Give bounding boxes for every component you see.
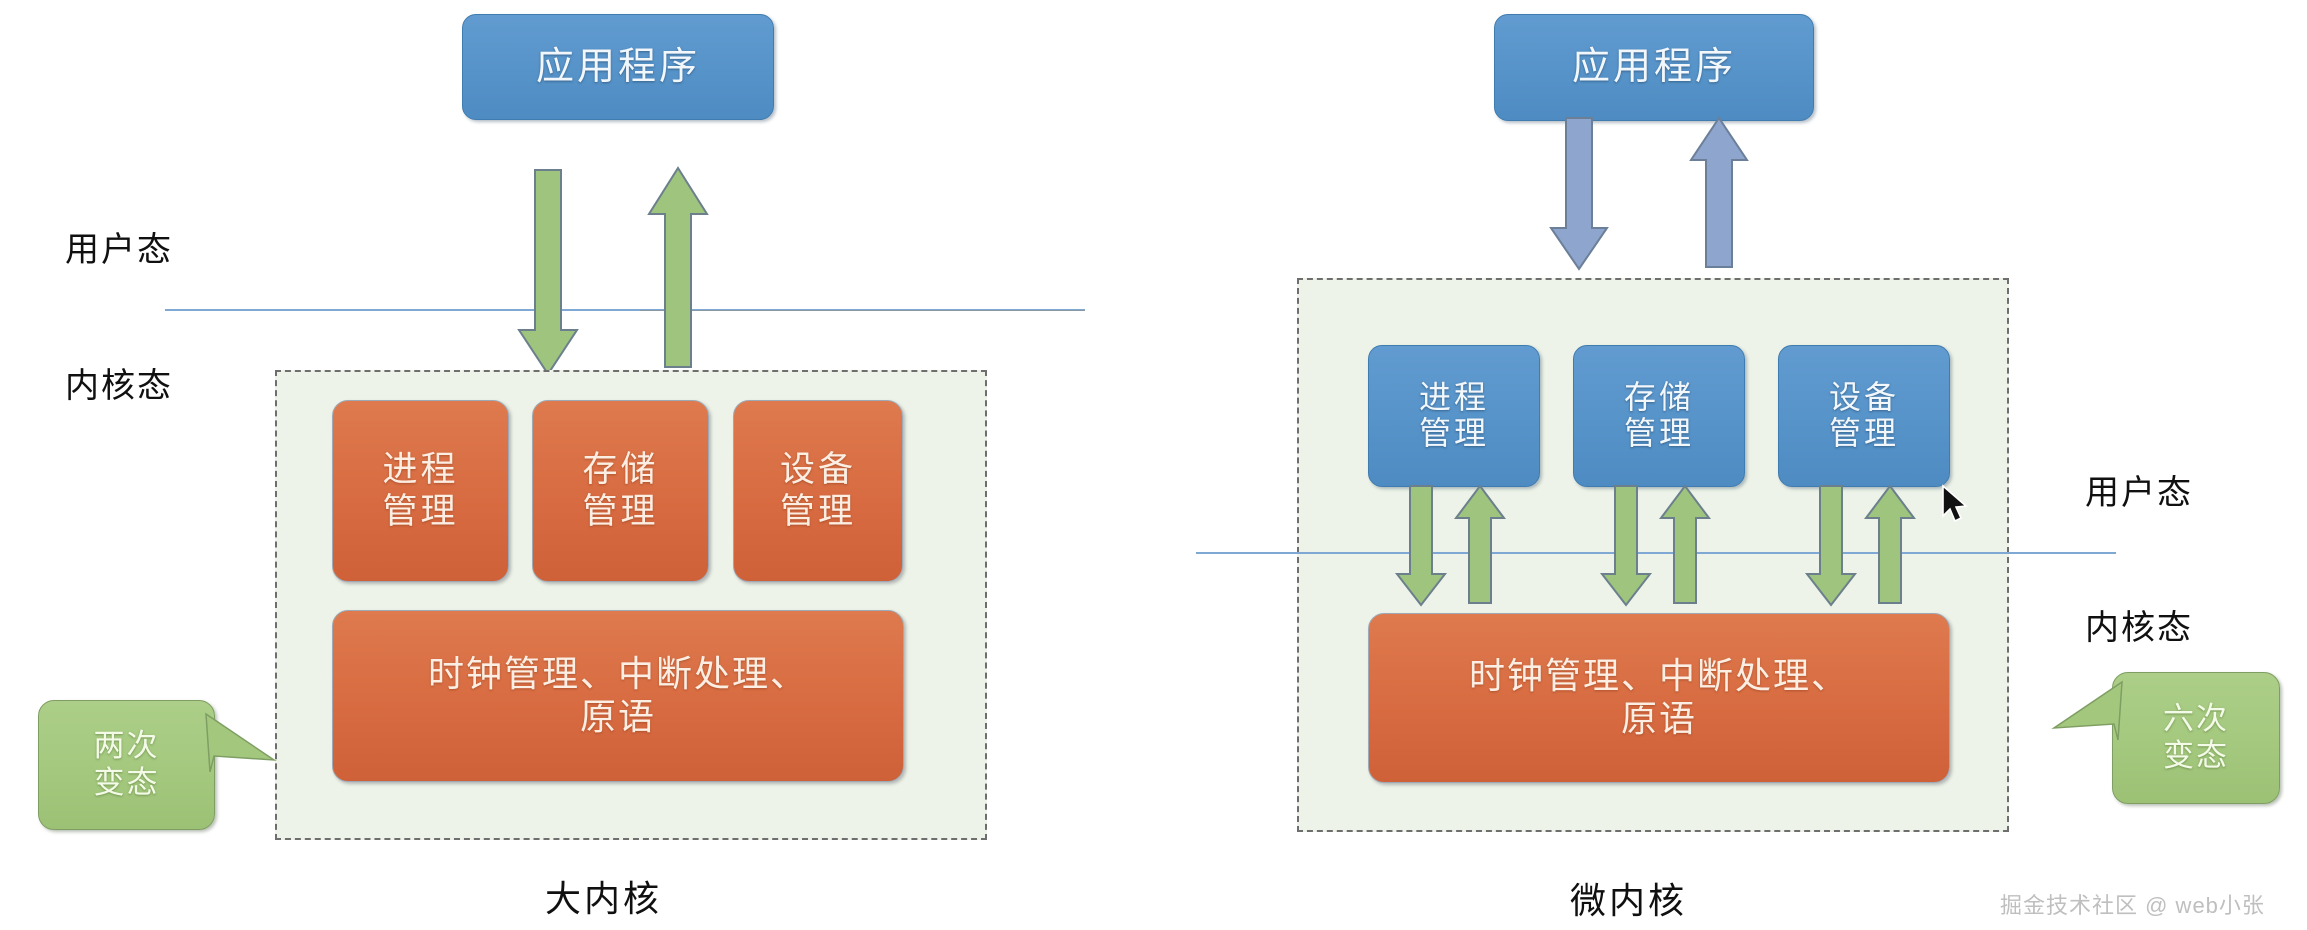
right-application-label: 应用程序 xyxy=(1572,46,1736,89)
left-callout-tail-icon xyxy=(206,712,276,774)
right-module-storage-line2: 管理 xyxy=(1624,416,1694,452)
left-callout-line2: 变态 xyxy=(94,765,160,802)
right-arrow-down-blue xyxy=(1550,118,1608,270)
left-arrow-down-green xyxy=(518,170,578,375)
right-arrow-down-green-1 xyxy=(1396,486,1446,606)
diagram-canvas: 应用程序 用户态 内核态 进程 管理 存储 管理 设备 管理 时钟管理、中断处理… xyxy=(0,0,2307,930)
left-callout-bubble: 两次 变态 xyxy=(38,700,215,830)
right-module-device-line2: 管理 xyxy=(1829,416,1899,452)
right-kernel-name-label: 微内核 xyxy=(1570,872,1687,924)
left-application-box: 应用程序 xyxy=(462,14,774,120)
right-callout-line1: 六次 xyxy=(2163,701,2229,738)
right-module-process-line1: 进程 xyxy=(1419,380,1489,416)
right-mode-divider xyxy=(1196,552,2116,554)
left-module-storage-line1: 存储 xyxy=(582,449,658,491)
right-callout-bubble: 六次 变态 xyxy=(2112,672,2280,804)
right-module-process-line2: 管理 xyxy=(1419,416,1489,452)
left-callout-line1: 两次 xyxy=(94,728,160,765)
right-arrow-up-green-1 xyxy=(1455,486,1505,604)
left-base-services-line1: 时钟管理、中断处理、 xyxy=(428,653,808,696)
right-base-services-box: 时钟管理、中断处理、 原语 xyxy=(1368,613,1950,783)
left-base-services-box: 时钟管理、中断处理、 原语 xyxy=(332,610,904,782)
right-base-services-line1: 时钟管理、中断处理、 xyxy=(1469,655,1849,698)
right-arrow-down-green-2 xyxy=(1601,486,1651,606)
left-module-device: 设备 管理 xyxy=(733,400,903,582)
right-arrow-up-blue xyxy=(1690,118,1748,268)
left-module-device-line1: 设备 xyxy=(780,449,856,491)
right-application-box: 应用程序 xyxy=(1494,14,1814,121)
left-module-process-line2: 管理 xyxy=(382,491,458,533)
left-module-process-line1: 进程 xyxy=(382,449,458,491)
right-arrow-up-green-3 xyxy=(1865,486,1915,604)
watermark-text: 掘金技术社区 @ web小张 xyxy=(2000,888,2265,920)
left-module-device-line2: 管理 xyxy=(780,491,856,533)
right-module-storage: 存储 管理 xyxy=(1573,345,1745,487)
left-application-label: 应用程序 xyxy=(536,46,700,89)
right-arrow-down-green-3 xyxy=(1806,486,1856,606)
right-module-storage-line1: 存储 xyxy=(1624,380,1694,416)
left-kernel-mode-label: 内核态 xyxy=(65,358,173,407)
left-module-process: 进程 管理 xyxy=(332,400,509,582)
right-user-mode-label: 用户态 xyxy=(2085,465,2193,514)
left-kernel-name-label: 大内核 xyxy=(545,870,662,922)
right-callout-tail-icon xyxy=(2052,680,2122,742)
left-module-storage: 存储 管理 xyxy=(532,400,709,582)
mouse-cursor-icon xyxy=(1942,485,1972,527)
left-base-services-line2: 原语 xyxy=(580,696,656,739)
right-module-device-line1: 设备 xyxy=(1829,380,1899,416)
right-base-services-line2: 原语 xyxy=(1621,698,1697,741)
right-arrow-up-green-2 xyxy=(1660,486,1710,604)
right-module-process: 进程 管理 xyxy=(1368,345,1540,487)
left-arrow-up-green xyxy=(648,168,708,368)
left-module-storage-line2: 管理 xyxy=(582,491,658,533)
left-user-mode-label: 用户态 xyxy=(65,222,173,271)
right-module-device: 设备 管理 xyxy=(1778,345,1950,487)
right-kernel-mode-label: 内核态 xyxy=(2085,600,2193,649)
right-callout-line2: 变态 xyxy=(2163,738,2229,775)
